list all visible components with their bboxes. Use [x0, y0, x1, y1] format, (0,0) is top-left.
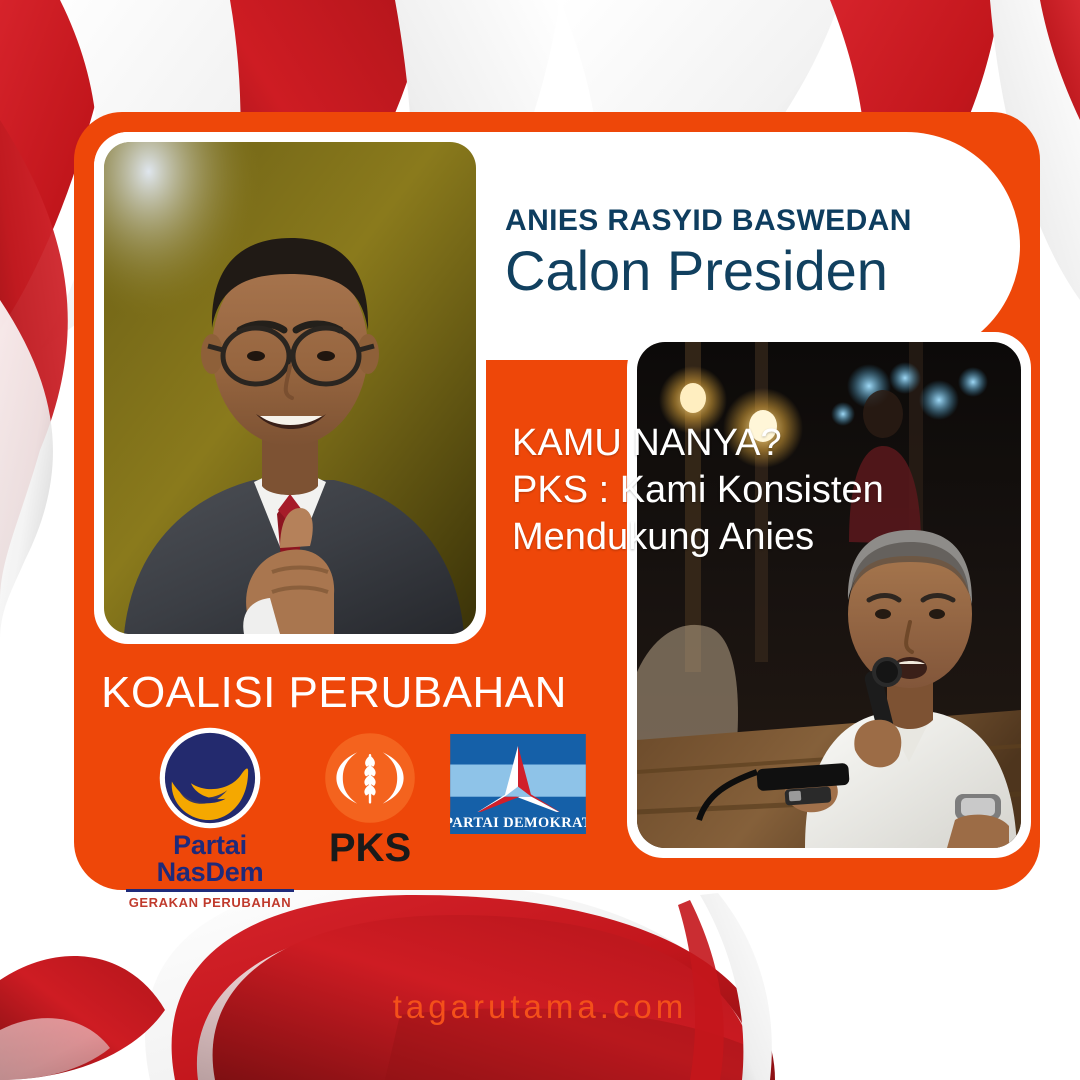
nasdem-emblem-icon — [158, 726, 262, 830]
quote-line-3: Mendukung Anies — [512, 514, 982, 561]
demokrat-emblem-icon: PARTAI DEMOKRAT — [450, 734, 586, 834]
nasdem-name: Partai NasDem — [120, 832, 300, 886]
party-logo-demokrat: PARTAI DEMOKRAT — [450, 734, 594, 834]
candidate-name: ANIES RASYID BASWEDAN — [505, 206, 1025, 236]
pks-name: PKS — [305, 828, 435, 868]
headline-group: ANIES RASYID BASWEDAN Calon Presiden — [505, 206, 1025, 300]
nasdem-underline — [126, 889, 294, 892]
quote-line-1: KAMU NANYA? — [512, 420, 982, 467]
coalition-logos: Partai NasDem GERAKAN PERUBAHAN — [100, 726, 620, 876]
site-watermark: tagarutama.com — [0, 988, 1080, 1026]
coalition-title: KOALISI PERUBAHAN — [74, 668, 594, 718]
nasdem-tagline: GERAKAN PERUBAHAN — [120, 895, 300, 910]
poster-canvas: ANIES RASYID BASWEDAN Calon Presiden KAM… — [0, 0, 1080, 1080]
pks-emblem-icon — [322, 730, 418, 826]
party-logo-pks: PKS — [305, 730, 435, 868]
party-logo-nasdem: Partai NasDem GERAKAN PERUBAHAN — [120, 726, 300, 910]
quote-text-group: KAMU NANYA? PKS : Kami Konsisten Menduku… — [512, 420, 982, 561]
photo-anies-portrait — [94, 132, 486, 644]
photo-pks-press-conference — [627, 332, 1031, 858]
demokrat-wordmark: PARTAI DEMOKRAT — [450, 815, 586, 831]
quote-line-2: PKS : Kami Konsisten — [512, 467, 982, 514]
candidate-role: Calon Presiden — [505, 242, 1025, 300]
